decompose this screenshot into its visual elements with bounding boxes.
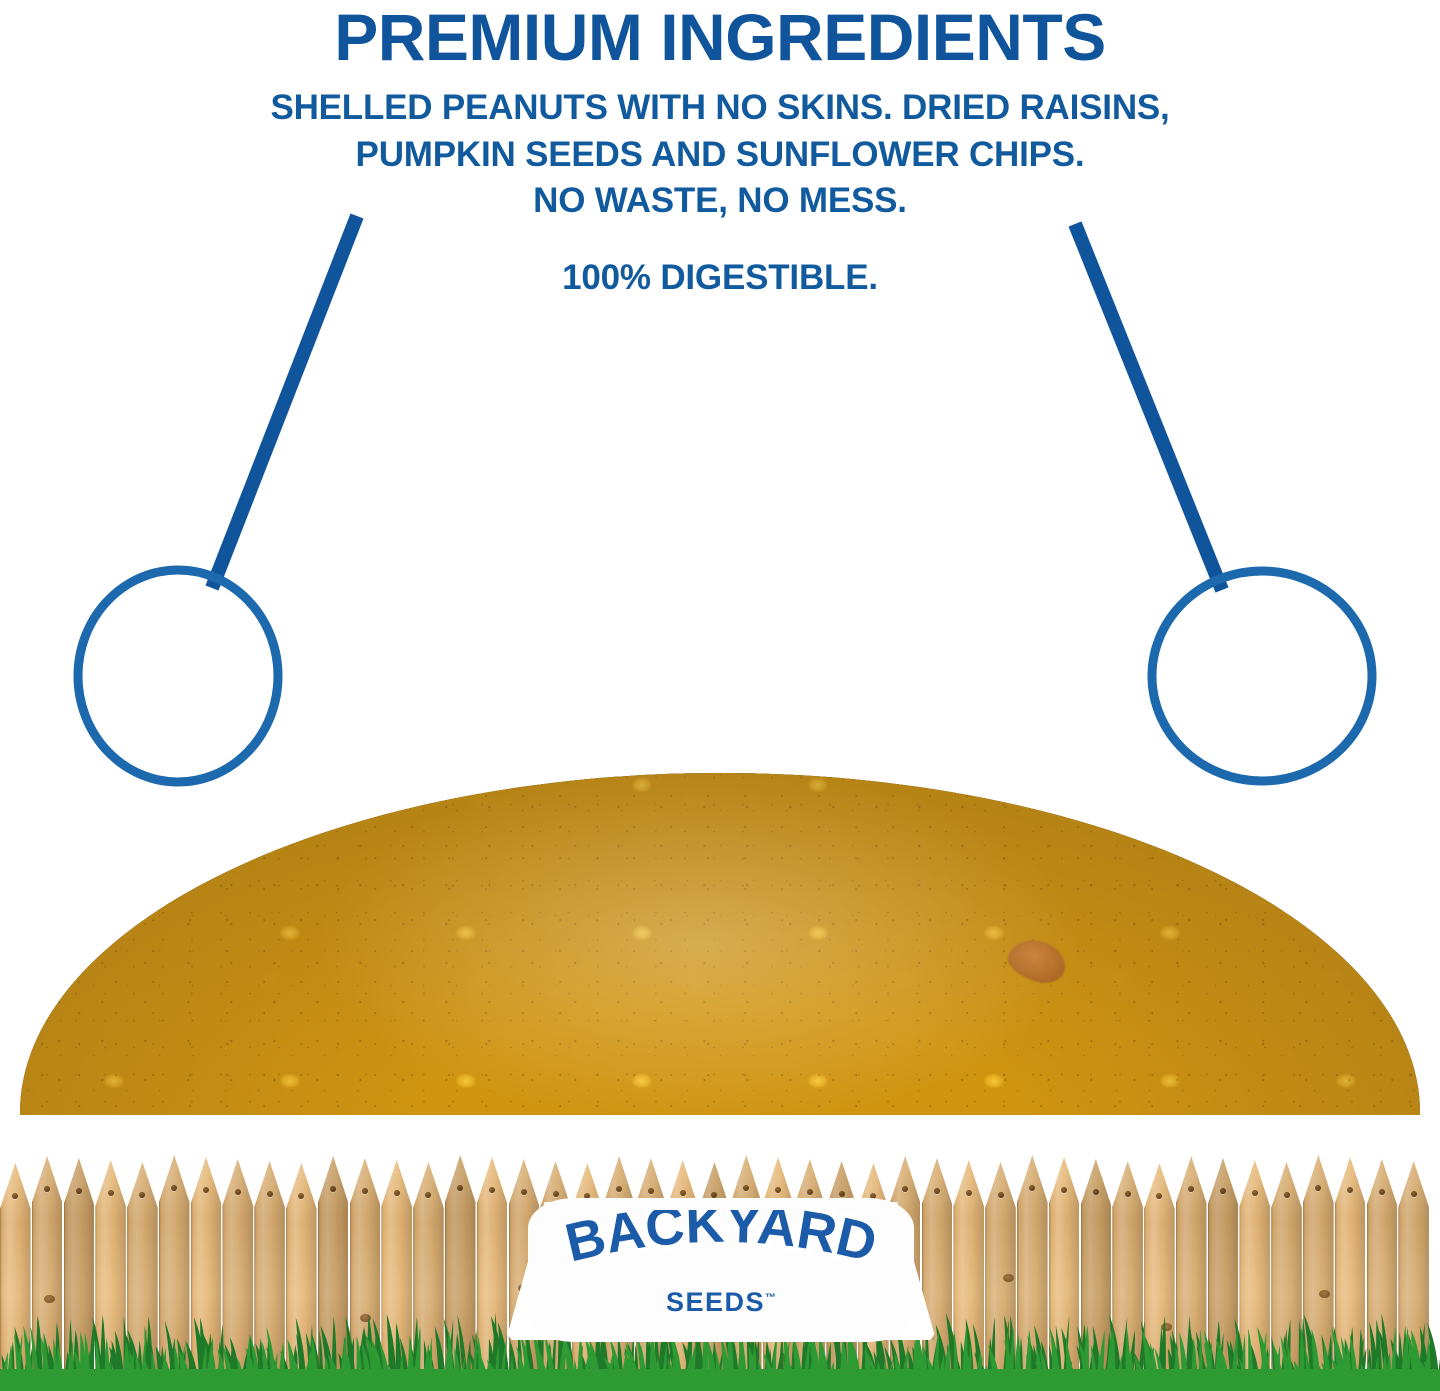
ingredients-description: SHELLED PEANUTS WITH NO SKINS. DRIED RAI… [0,71,1440,224]
product-infographic: PREMIUM INGREDIENTS SHELLED PEANUTS WITH… [0,0,1440,1391]
grass-base [0,1369,1440,1391]
marketing-copy: PREMIUM INGREDIENTS SHELLED PEANUTS WITH… [0,0,1440,298]
wood-knot [1003,1274,1014,1282]
logo-sign-inner [528,1198,914,1342]
seed-pile-mask [0,385,1440,1115]
peach-chip [740,653,832,725]
speckle-layer [0,385,1440,1115]
description-line-2: PUMPKIN SEEDS AND SUNFLOWER CHIPS. [0,132,1440,178]
page-title: PREMIUM INGREDIENTS [0,0,1440,71]
orange-chunk-upper [1039,690,1165,805]
brand-logo[interactable]: BACKYARD BACKYARD SEEDS™ [506,1196,936,1346]
product-photo [0,355,1440,1115]
description-line-1: SHELLED PEANUTS WITH NO SKINS. DRIED RAI… [0,85,1440,131]
caramel-cluster [672,413,922,517]
digestible-claim: 100% DIGESTIBLE. [0,224,1440,298]
description-line-3: NO WASTE, NO MESS. [0,178,1440,224]
seed-pile [0,385,1440,1115]
